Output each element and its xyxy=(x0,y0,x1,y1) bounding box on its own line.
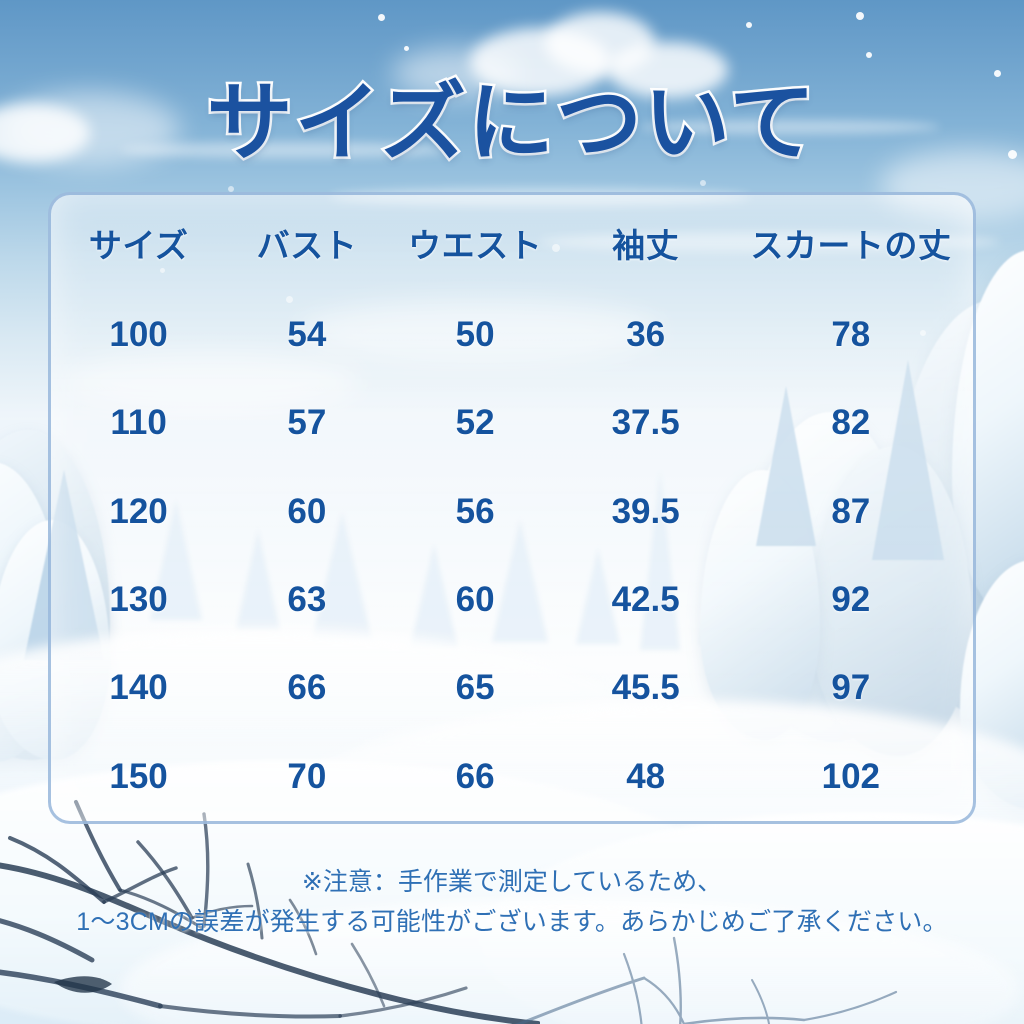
cell-skirt: 97 xyxy=(729,644,973,732)
cell-waist: 56 xyxy=(388,468,563,556)
cell-bust: 60 xyxy=(226,468,387,556)
table-row: 140 66 65 45.5 97 xyxy=(51,644,973,732)
size-chart-page: サイズについて サイズ バスト ウエスト 袖丈 スカートの丈 100 54 xyxy=(0,0,1024,1024)
column-header-skirt-length: スカートの丈 xyxy=(729,195,973,291)
snow-fleck xyxy=(378,14,385,21)
cell-waist: 60 xyxy=(388,556,563,644)
cell-size: 140 xyxy=(51,644,226,732)
cell-size: 150 xyxy=(51,733,226,821)
cell-size: 120 xyxy=(51,468,226,556)
cell-sleeve: 45.5 xyxy=(563,644,729,732)
disclaimer-line-1: ※注意：手作業で測定しているため、 xyxy=(0,862,1024,902)
cell-skirt: 102 xyxy=(729,733,973,821)
size-table: サイズ バスト ウエスト 袖丈 スカートの丈 100 54 50 36 78 1… xyxy=(51,195,973,821)
cell-skirt: 87 xyxy=(729,468,973,556)
column-header-sleeve-length: 袖丈 xyxy=(563,195,729,291)
cell-bust: 57 xyxy=(226,379,387,467)
column-header-waist: ウエスト xyxy=(388,195,563,291)
measurement-disclaimer: ※注意：手作業で測定しているため、 1〜3CMの誤差が発生する可能性がございます… xyxy=(0,862,1024,942)
cell-size: 110 xyxy=(51,379,226,467)
table-row: 100 54 50 36 78 xyxy=(51,291,973,379)
cell-sleeve: 37.5 xyxy=(563,379,729,467)
table-row: 130 63 60 42.5 92 xyxy=(51,556,973,644)
cell-bust: 66 xyxy=(226,644,387,732)
table-row: 150 70 66 48 102 xyxy=(51,733,973,821)
column-header-bust: バスト xyxy=(226,195,387,291)
disclaimer-line-2: 1〜3CMの誤差が発生する可能性がございます。あらかじめご了承ください。 xyxy=(0,902,1024,942)
cell-sleeve: 42.5 xyxy=(563,556,729,644)
page-title: サイズについて xyxy=(0,52,1024,177)
cell-waist: 66 xyxy=(388,733,563,821)
column-header-size: サイズ xyxy=(51,195,226,291)
cell-skirt: 82 xyxy=(729,379,973,467)
snow-fleck xyxy=(856,12,864,20)
snow-fleck xyxy=(404,46,409,51)
cell-bust: 54 xyxy=(226,291,387,379)
cell-size: 130 xyxy=(51,556,226,644)
cell-sleeve: 39.5 xyxy=(563,468,729,556)
cell-bust: 63 xyxy=(226,556,387,644)
table-row: 120 60 56 39.5 87 xyxy=(51,468,973,556)
cell-sleeve: 48 xyxy=(563,733,729,821)
cell-skirt: 78 xyxy=(729,291,973,379)
cell-waist: 65 xyxy=(388,644,563,732)
snow-fleck xyxy=(700,180,706,186)
snow-fleck xyxy=(746,22,752,28)
cell-sleeve: 36 xyxy=(563,291,729,379)
cell-waist: 50 xyxy=(388,291,563,379)
cell-size: 100 xyxy=(51,291,226,379)
cell-skirt: 92 xyxy=(729,556,973,644)
cell-waist: 52 xyxy=(388,379,563,467)
size-table-panel: サイズ バスト ウエスト 袖丈 スカートの丈 100 54 50 36 78 1… xyxy=(48,192,976,824)
table-header-row: サイズ バスト ウエスト 袖丈 スカートの丈 xyxy=(51,195,973,291)
cell-bust: 70 xyxy=(226,733,387,821)
table-row: 110 57 52 37.5 82 xyxy=(51,379,973,467)
